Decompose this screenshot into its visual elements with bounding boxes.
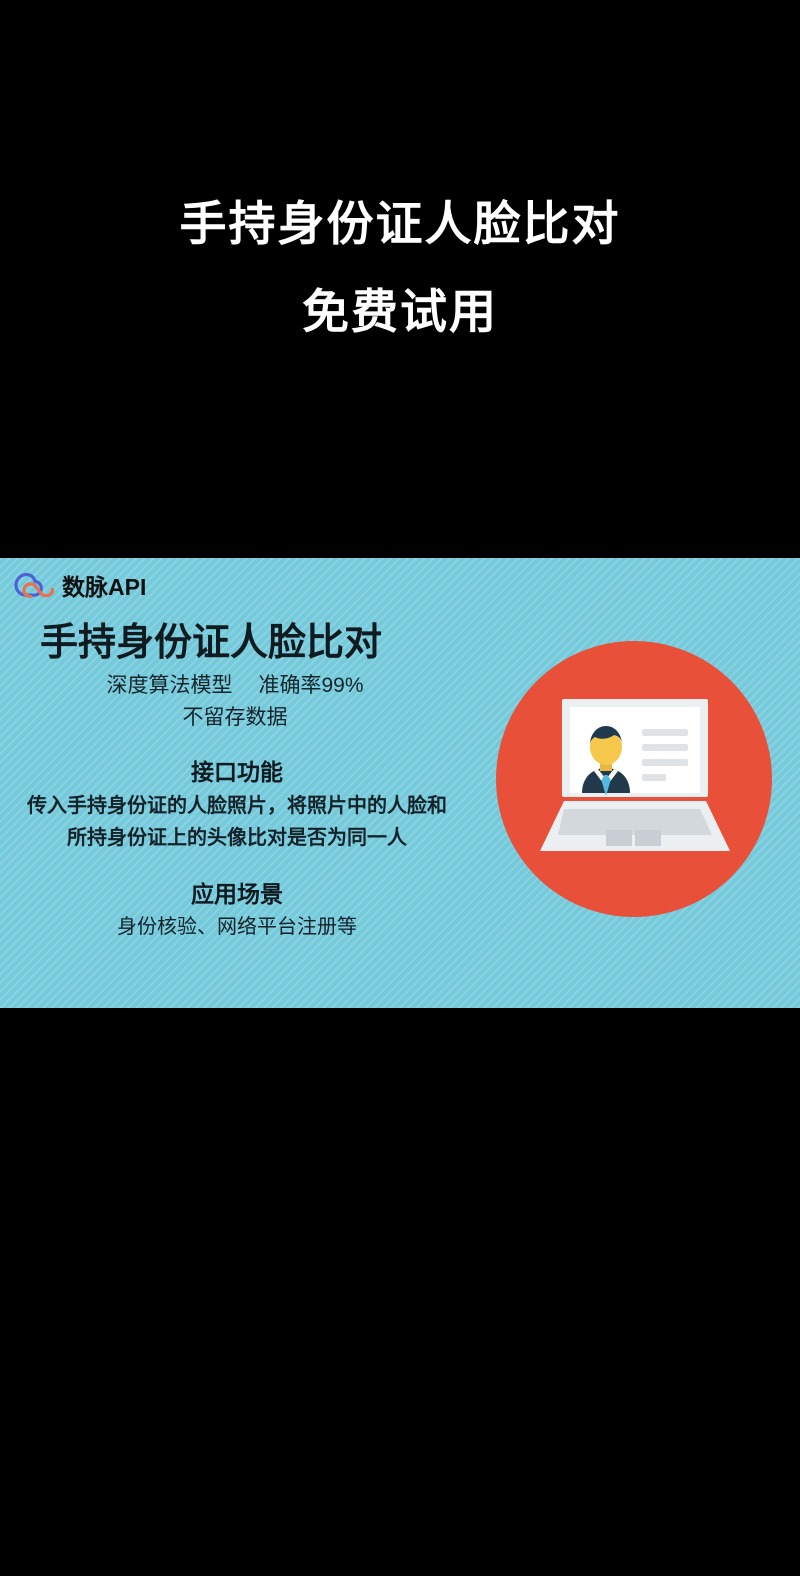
banner-subtitle-left: 深度算法模型 <box>106 674 232 697</box>
hero-title-block: 手持身份证人脸比对 免费试用 <box>0 180 800 356</box>
section-api-function-heading: 接口功能 <box>0 755 474 790</box>
section-use-cases-heading: 应用场景 <box>0 877 474 912</box>
promo-screen: 手持身份证人脸比对 免费试用 数脉API 手持身份证人脸比对 深度算法模型准确率… <box>0 0 800 1576</box>
laptop-trackpad-right <box>635 830 661 846</box>
section-api-function: 接口功能 传入手持身份证的人脸照片，将照片中的人脸和 所持身份证上的头像比对是否… <box>0 755 490 854</box>
cloud-loop-logo-icon <box>14 570 54 604</box>
hero-title-line-1: 手持身份证人脸比对 <box>0 180 800 268</box>
banner-title: 手持身份证人脸比对 <box>40 620 490 666</box>
brand-logo-text: 数脉API <box>62 576 146 599</box>
section-use-cases: 应用场景 身份核验、网络平台注册等 <box>0 877 490 944</box>
banner-subtitle-right: 准确率99% <box>258 674 363 697</box>
section-api-function-body-line-2: 所持身份证上的头像比对是否为同一人 <box>0 822 474 854</box>
banner-subtitle: 深度算法模型准确率99% 不留存数据 <box>0 670 490 733</box>
laptop-id-card-illustration <box>494 639 774 919</box>
section-api-function-body-line-1: 传入手持身份证的人脸照片，将照片中的人脸和 <box>0 790 474 822</box>
banner-subtitle-line-2: 不留存数据 <box>0 702 470 734</box>
hero-title-line-2: 免费试用 <box>0 268 800 356</box>
banner-text-column: 手持身份证人脸比对 深度算法模型准确率99% 不留存数据 接口功能 传入手持身份… <box>0 620 490 944</box>
laptop-trackpad-left <box>606 830 632 846</box>
section-use-cases-body-line-1: 身份核验、网络平台注册等 <box>0 911 474 943</box>
brand-logo[interactable]: 数脉API <box>14 570 146 604</box>
